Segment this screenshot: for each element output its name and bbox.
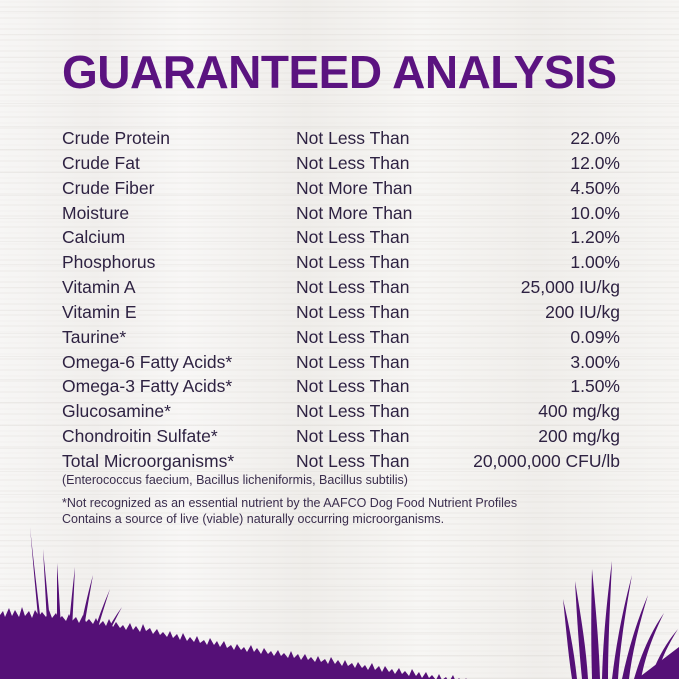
grass-silhouette-decoration <box>0 519 679 679</box>
table-row: Calcium Not Less Than 1.20% <box>62 225 620 250</box>
nutrient-name: Phosphorus <box>62 250 155 275</box>
nutrient-name: Vitamin A <box>62 275 136 300</box>
nutrient-value: 22.0% <box>570 126 620 151</box>
nutrient-name: Crude Fat <box>62 151 140 176</box>
nutrient-name: Omega-3 Fatty Acids* <box>62 374 232 399</box>
nutrient-value: 1.50% <box>570 374 620 399</box>
table-row: Glucosamine* Not Less Than 400 mg/kg <box>62 399 620 424</box>
nutrient-value: 0.09% <box>570 325 620 350</box>
nutrient-value: 3.00% <box>570 350 620 375</box>
nutrient-value: 4.50% <box>570 176 620 201</box>
nutrient-qualifier: Not Less Than <box>296 225 410 250</box>
nutrient-name: Omega-6 Fatty Acids* <box>62 350 232 375</box>
nutrient-name: Crude Fiber <box>62 176 154 201</box>
nutrient-value: 12.0% <box>570 151 620 176</box>
nutrient-qualifier: Not Less Than <box>296 449 410 474</box>
table-row: Total Microorganisms* Not Less Than 20,0… <box>62 449 620 474</box>
nutrient-name: Moisture <box>62 201 129 226</box>
nutrient-name: Glucosamine* <box>62 399 171 424</box>
table-row: Crude Fiber Not More Than 4.50% <box>62 176 620 201</box>
nutrient-qualifier: Not More Than <box>296 176 412 201</box>
nutrient-name: Crude Protein <box>62 126 170 151</box>
guaranteed-analysis-panel: GUARANTEED ANALYSIS Crude Protein Not Le… <box>0 0 679 679</box>
nutrient-qualifier: Not Less Than <box>296 424 410 449</box>
nutrient-name: Taurine* <box>62 325 126 350</box>
table-row: Crude Fat Not Less Than 12.0% <box>62 151 620 176</box>
table-row: Moisture Not More Than 10.0% <box>62 201 620 226</box>
table-row: Crude Protein Not Less Than 22.0% <box>62 126 620 151</box>
nutrient-qualifier: Not Less Than <box>296 275 410 300</box>
nutrient-value: 25,000 IU/kg <box>521 275 620 300</box>
nutrient-qualifier: Not More Than <box>296 201 412 226</box>
table-row: Omega-3 Fatty Acids* Not Less Than 1.50% <box>62 374 620 399</box>
nutrient-qualifier: Not Less Than <box>296 350 410 375</box>
nutrient-value: 1.00% <box>570 250 620 275</box>
nutrient-qualifier: Not Less Than <box>296 325 410 350</box>
table-row: Vitamin E Not Less Than 200 IU/kg <box>62 300 620 325</box>
nutrient-value: 1.20% <box>570 225 620 250</box>
nutrient-name: Vitamin E <box>62 300 137 325</box>
nutrient-value: 200 IU/kg <box>545 300 620 325</box>
nutrient-value: 400 mg/kg <box>538 399 620 424</box>
nutrient-name: Total Microorganisms* <box>62 449 234 474</box>
nutrient-qualifier: Not Less Than <box>296 300 410 325</box>
nutrient-value: 200 mg/kg <box>538 424 620 449</box>
nutrient-value: 20,000,000 CFU/lb <box>473 449 620 474</box>
table-row: Omega-6 Fatty Acids* Not Less Than 3.00% <box>62 350 620 375</box>
footnote-aafco: *Not recognized as an essential nutrient… <box>62 496 517 512</box>
table-row: Taurine* Not Less Than 0.09% <box>62 325 620 350</box>
nutrient-name: Calcium <box>62 225 125 250</box>
microorganism-species-note: (Enterococcus faecium, Bacillus lichenif… <box>62 472 408 488</box>
guaranteed-analysis-table: Crude Protein Not Less Than 22.0% Crude … <box>62 126 620 474</box>
table-row: Vitamin A Not Less Than 25,000 IU/kg <box>62 275 620 300</box>
nutrient-qualifier: Not Less Than <box>296 399 410 424</box>
nutrient-name: Chondroitin Sulfate* <box>62 424 218 449</box>
nutrient-qualifier: Not Less Than <box>296 374 410 399</box>
table-row: Chondroitin Sulfate* Not Less Than 200 m… <box>62 424 620 449</box>
nutrient-qualifier: Not Less Than <box>296 250 410 275</box>
page-title: GUARANTEED ANALYSIS <box>62 46 617 98</box>
table-row: Phosphorus Not Less Than 1.00% <box>62 250 620 275</box>
nutrient-qualifier: Not Less Than <box>296 126 410 151</box>
panel-content: GUARANTEED ANALYSIS Crude Protein Not Le… <box>0 0 679 679</box>
nutrient-qualifier: Not Less Than <box>296 151 410 176</box>
nutrient-value: 10.0% <box>570 201 620 226</box>
